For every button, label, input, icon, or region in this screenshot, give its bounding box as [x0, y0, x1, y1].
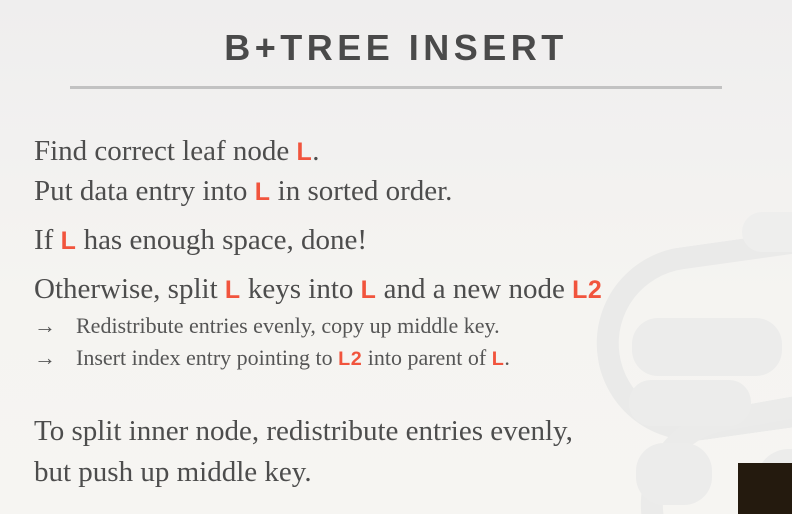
body-line: Put data entry into L in sorted order. — [34, 172, 774, 212]
text-run: into parent of — [362, 345, 492, 370]
slide-canvas: B+TREE INSERT Find correct leaf node L. … — [0, 0, 792, 514]
text-run: but push up middle key. — [34, 456, 312, 488]
body-line: Find correct leaf node L. — [34, 132, 774, 172]
highlighted-term: L — [255, 178, 271, 206]
highlighted-term: L — [225, 276, 241, 304]
highlighted-term: L2 — [338, 348, 362, 370]
body-line: Otherwise, split L keys into L and a new… — [34, 270, 774, 310]
body-line: To split inner node, redistribute entrie… — [34, 411, 774, 452]
text-run: Insert index entry pointing to — [76, 345, 338, 370]
slide-title: B+TREE INSERT — [0, 27, 792, 69]
text-run: keys into — [241, 273, 361, 305]
body-line: but push up middle key. — [34, 452, 774, 493]
highlighted-term: L — [61, 227, 77, 255]
body-subline-text: Redistribute entries evenly, copy up mid… — [76, 313, 500, 338]
text-run: in sorted order. — [270, 175, 452, 207]
body-line: If L has enough space, done! — [34, 221, 774, 261]
body-subline: →Insert index entry pointing to L2 into … — [34, 342, 774, 375]
text-run: . — [504, 345, 510, 370]
body-subline-text: Insert index entry pointing to L2 into p… — [76, 345, 510, 370]
text-run: Put data entry into — [34, 175, 255, 207]
text-run: Redistribute entries evenly, copy up mid… — [76, 313, 500, 338]
text-run: has enough space, done! — [76, 224, 367, 256]
slide-body-tail: To split inner node, redistribute entrie… — [34, 411, 774, 493]
title-divider-rule — [70, 86, 722, 89]
highlighted-term: L — [361, 276, 377, 304]
text-run: Find correct leaf node — [34, 135, 297, 167]
text-run: To split inner node, redistribute entrie… — [34, 415, 573, 447]
body-subline: →Redistribute entries evenly, copy up mi… — [34, 310, 774, 342]
arrow-icon: → — [34, 342, 76, 374]
text-run: . — [312, 135, 319, 167]
highlighted-term: L — [297, 138, 313, 166]
slide-body: Find correct leaf node L. Put data entry… — [34, 132, 774, 375]
text-run: and a new node — [376, 273, 572, 305]
highlighted-term: L — [492, 348, 505, 370]
highlighted-term: L2 — [572, 276, 602, 304]
arrow-icon: → — [34, 310, 76, 342]
text-run: Otherwise, split — [34, 273, 225, 305]
text-run: If — [34, 224, 61, 256]
video-overlay[interactable] — [738, 463, 792, 514]
